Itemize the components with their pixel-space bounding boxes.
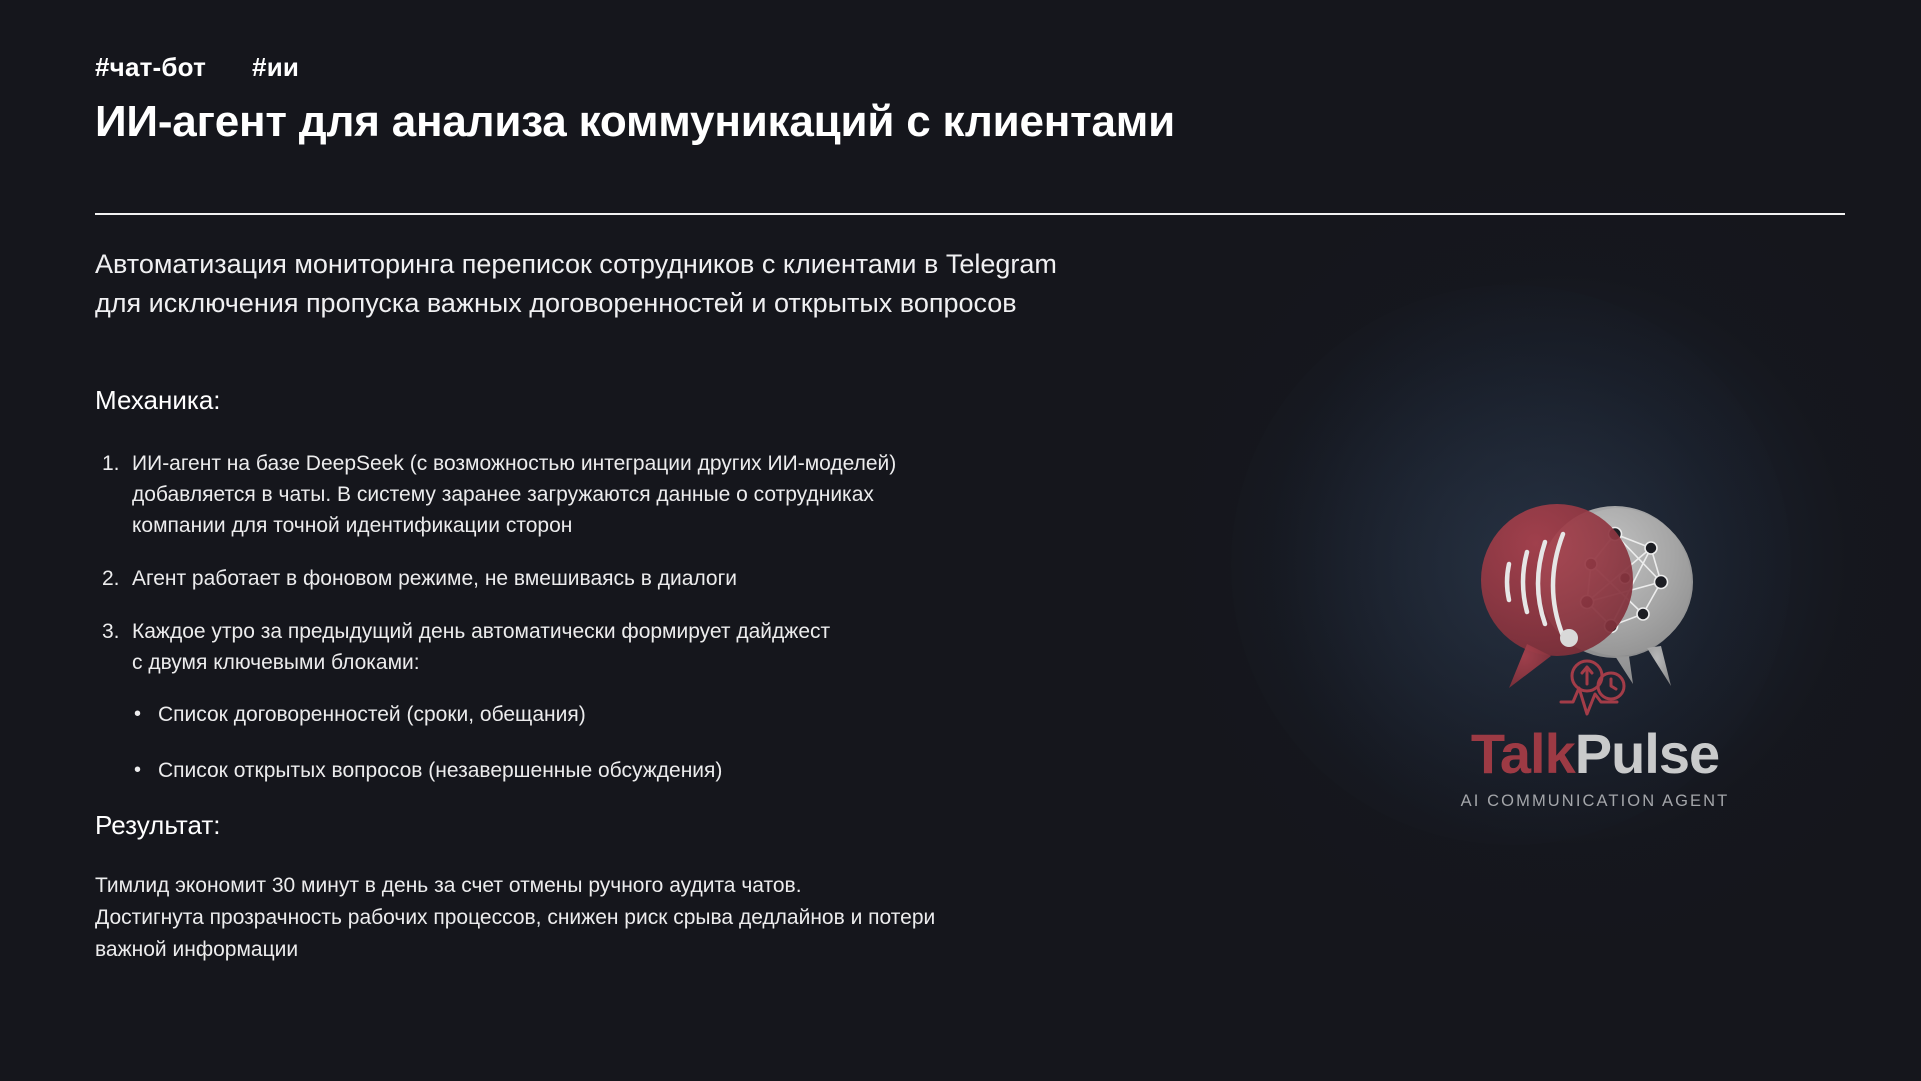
hashtag-ai[interactable]: #ии xyxy=(252,52,299,83)
mechanics-item: 3. Каждое утро за предыдущий день автома… xyxy=(98,616,1198,678)
result-heading: Результат: xyxy=(95,810,220,841)
list-item-text: Агент работает в фоновом режиме, не вмеш… xyxy=(132,563,1198,594)
mechanics-item: 1. ИИ-агент на базе DeepSeek (с возможно… xyxy=(98,448,1198,541)
logo-wordmark: TalkPulse xyxy=(1380,726,1810,782)
mechanics-sub-list: • Список договоренностей (сроки, обещани… xyxy=(134,700,1198,785)
bullet-marker: • xyxy=(134,756,158,785)
logo-mark xyxy=(1465,490,1725,720)
mechanics-sub-item: • Список открытых вопросов (незавершенны… xyxy=(134,756,1198,785)
logo-word-talk: Talk xyxy=(1471,722,1575,785)
sub-item-text: Список договоренностей (сроки, обещания) xyxy=(158,700,586,729)
list-item-text: ИИ-агент на базе DeepSeek (с возможность… xyxy=(132,448,1198,541)
list-item-text: Каждое утро за предыдущий день автоматич… xyxy=(132,616,1198,678)
speech-bubbles-icon xyxy=(1465,490,1725,720)
soundwave-dot xyxy=(1560,629,1578,647)
red-bubble xyxy=(1481,504,1633,688)
list-marker: 1. xyxy=(98,448,132,479)
result-body: Тимлид экономит 30 минут в день за счет … xyxy=(95,870,1195,966)
mechanics-list: 1. ИИ-агент на базе DeepSeek (с возможно… xyxy=(98,448,1198,811)
pulse-clock-icon xyxy=(1561,661,1624,714)
list-marker: 3. xyxy=(98,616,132,647)
hashtag-row: #чат-бот #ии xyxy=(95,52,299,83)
logo-tagline: AI COMMUNICATION AGENT xyxy=(1380,792,1810,811)
subtitle: Автоматизация мониторинга переписок сотр… xyxy=(95,245,1057,323)
hashtag-chat-bot[interactable]: #чат-бот xyxy=(95,52,206,83)
bullet-marker: • xyxy=(134,700,158,729)
mechanics-item: 2. Агент работает в фоновом режиме, не в… xyxy=(98,563,1198,594)
header-divider xyxy=(95,213,1845,215)
sub-item-text: Список открытых вопросов (незавершенные … xyxy=(158,756,722,785)
logo-word-pulse: Pulse xyxy=(1575,722,1719,785)
list-marker: 2. xyxy=(98,563,132,594)
mechanics-heading: Механика: xyxy=(95,385,221,416)
page-title: ИИ-агент для анализа коммуникаций с клие… xyxy=(95,97,1175,147)
mechanics-sub-item: • Список договоренностей (сроки, обещани… xyxy=(134,700,1198,729)
talkpulse-logo: TalkPulse AI COMMUNICATION AGENT xyxy=(1380,490,1810,811)
slide-root: #чат-бот #ии ИИ-агент для анализа коммун… xyxy=(0,0,1921,1081)
